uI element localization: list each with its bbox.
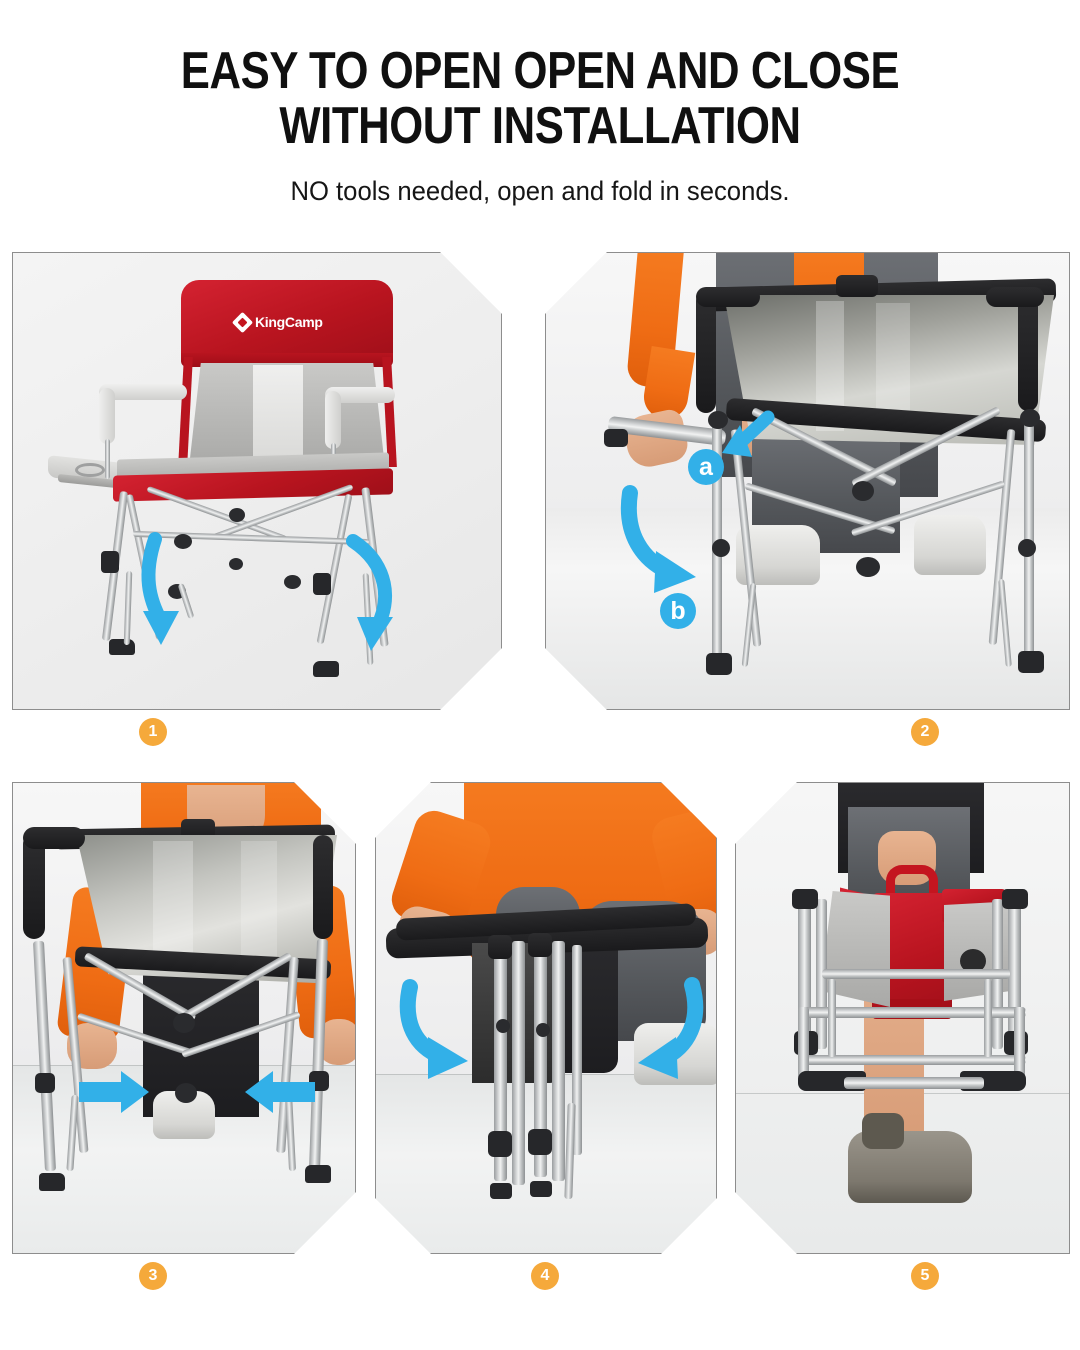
short-down-arrow-a (718, 413, 778, 467)
unfold-legs-step: a b (546, 253, 1069, 709)
step-badge-4: 4 (531, 1262, 559, 1290)
carry-handle (836, 275, 878, 297)
panel-step-2: a b (545, 252, 1070, 710)
left-arrow (245, 1071, 315, 1113)
panel-row-bottom (0, 782, 1080, 1254)
panel-step-1: KingCamp (12, 252, 502, 710)
fold-armrests-step (376, 783, 716, 1253)
curved-down-arrow-left (400, 981, 484, 1091)
marker-b: b (660, 593, 696, 629)
panel-step-5 (735, 782, 1070, 1254)
panel-step-4 (375, 782, 717, 1254)
armrest-left-padded (696, 291, 716, 413)
push-legs-inward-step (13, 783, 355, 1253)
down-right-arrow (331, 535, 407, 661)
step-badge-1: 1 (139, 718, 167, 746)
carry-folded-chair-step (736, 783, 1069, 1253)
step-badge-3: 3 (139, 1262, 167, 1290)
right-arrow (79, 1071, 149, 1113)
person-shoe-right (914, 515, 986, 575)
panel-row-top: KingCamp (0, 252, 1080, 710)
brand-logo: KingCamp (235, 311, 357, 333)
armrest-right-padded (313, 835, 333, 939)
marker-a: a (688, 449, 724, 485)
step-badge-5: 5 (911, 1262, 939, 1290)
step-badge-2: 2 (911, 718, 939, 746)
down-left-arrow (135, 533, 207, 653)
panel-step-3 (12, 782, 356, 1254)
page-title: EASY TO OPEN OPEN AND CLOSE WITHOUT INST… (86, 44, 993, 154)
brand-name: KingCamp (255, 314, 323, 330)
cup-holder-icon (75, 463, 105, 477)
curved-down-arrow-right (622, 979, 706, 1091)
header: EASY TO OPEN OPEN AND CLOSE WITHOUT INST… (0, 0, 1080, 207)
page-subtitle: NO tools needed, open and fold in second… (27, 176, 1053, 207)
armrest-right-padded (1018, 293, 1038, 411)
curved-down-arrow-b (620, 485, 716, 609)
diamond-logo-icon (232, 311, 253, 332)
chair-open-product-shot: KingCamp (13, 253, 501, 709)
